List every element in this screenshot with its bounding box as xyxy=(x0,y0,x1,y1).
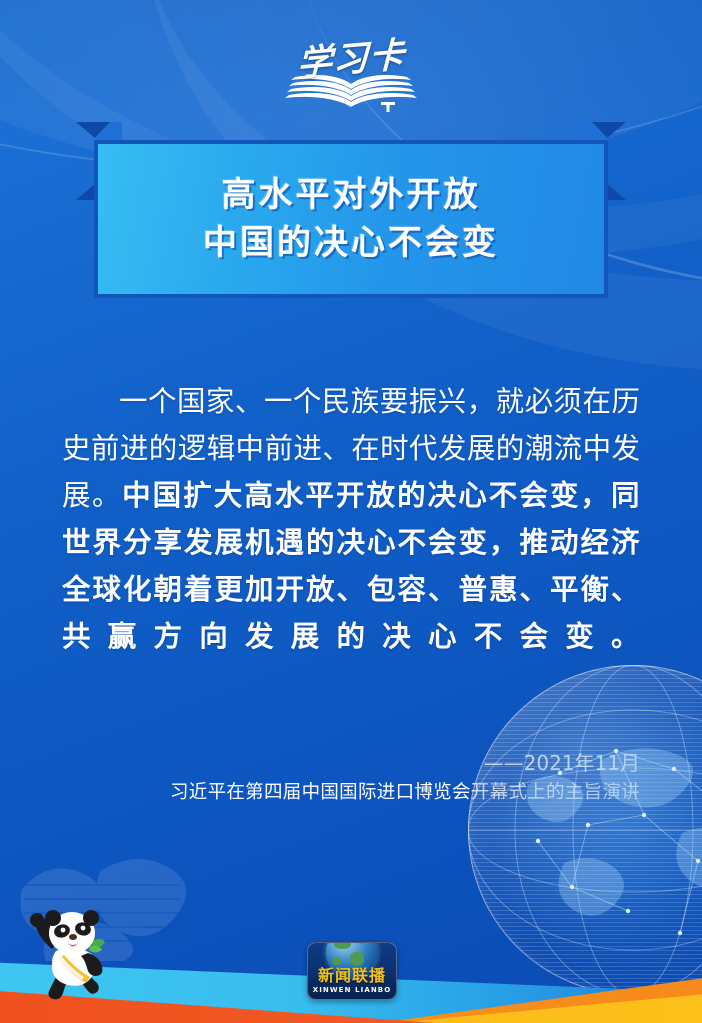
badge-title-cn: 新闻联播 xyxy=(308,968,396,984)
poster-root: 学习卡 xyxy=(0,0,702,1023)
quote-paragraph: 一个国家、一个民族要振兴，就必须在历史前进的逻辑中前进、在时代发展的潮流中发展。… xyxy=(62,378,640,660)
title-line-2: 中国的决心不会变 xyxy=(203,219,499,267)
quote-block: 一个国家、一个民族要振兴，就必须在历史前进的逻辑中前进、在时代发展的潮流中发展。… xyxy=(62,378,640,660)
network-globe-icon xyxy=(468,665,702,995)
badge-title-en: XINWEN LIANBO xyxy=(308,987,396,994)
title-frame: 高水平对外开放 中国的决心不会变 xyxy=(94,140,608,298)
title-panel: 高水平对外开放 中国的决心不会变 xyxy=(98,144,604,294)
brand-logo-text: 学习卡 xyxy=(297,37,405,82)
panda-mascot-icon xyxy=(26,905,122,1001)
title-line-1: 高水平对外开放 xyxy=(222,171,481,219)
xinwen-lianbo-badge[interactable]: 新闻联播 XINWEN LIANBO xyxy=(307,942,397,1000)
quote-bold-text: 中国扩大高水平开放的决心不会变，同世界分享发展机遇的决心不会变，推动经济全球化朝… xyxy=(62,479,640,653)
brand-logo: 学习卡 xyxy=(0,26,702,112)
title-ribbon: 高水平对外开放 中国的决心不会变 xyxy=(36,122,666,304)
